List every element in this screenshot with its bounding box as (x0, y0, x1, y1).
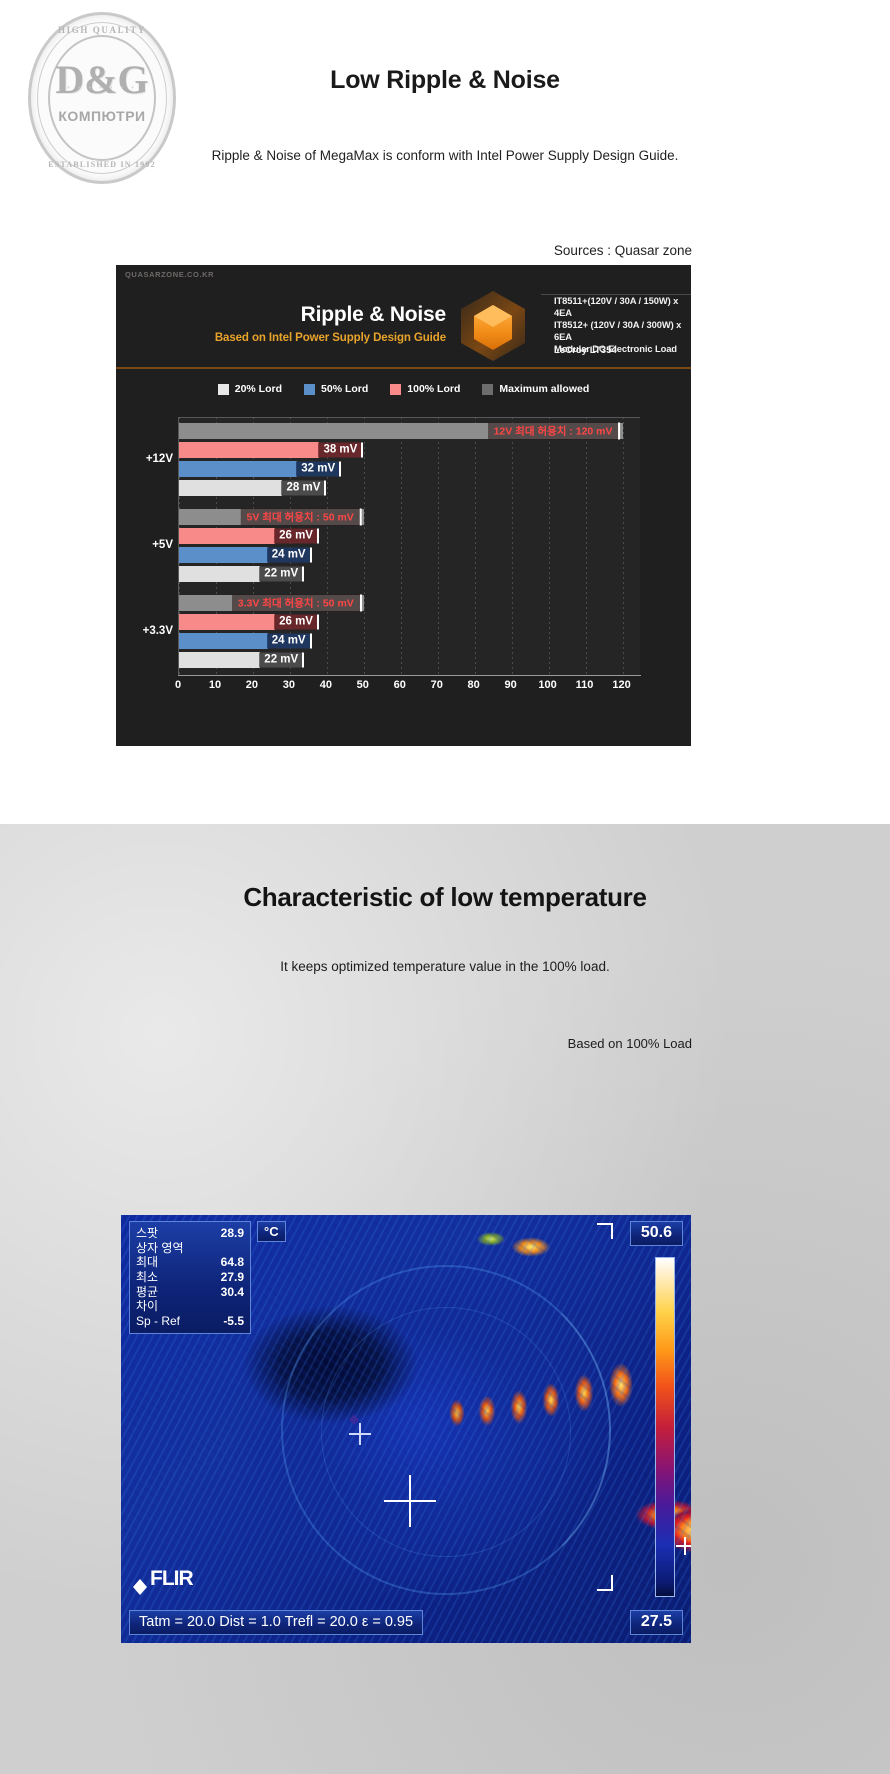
chart-bar-row: 24 mV (179, 633, 641, 649)
flir-readout-line: 스팟28.9 (136, 1226, 244, 1241)
chart-bar-row: 12V 최대 허용치 : 120 mV (179, 423, 641, 439)
flir-readout-key: 최대 (136, 1255, 158, 1270)
temperature-unit-badge: °C (257, 1221, 286, 1242)
x-axis-tick: 0 (175, 679, 181, 691)
chart-bar (179, 566, 260, 582)
flir-readout-line: 차이 (136, 1299, 244, 1314)
chart-bar-row: 26 mV (179, 528, 641, 544)
flir-readout-value: 27.9 (221, 1270, 244, 1285)
x-axis-tick: 40 (320, 679, 332, 691)
x-axis-tick-labels: 0102030405060708090100110120 (178, 679, 641, 697)
legend-swatch-icon (482, 384, 493, 395)
chart-limit-label: 12V 최대 허용치 : 120 mV (488, 423, 621, 440)
flir-measurement-readout: 스팟28.9상자 영역최대64.8최소27.9평균30.4차이Sp - Ref-… (129, 1221, 251, 1334)
ripple-noise-chart-card: QUASARZONE.CO.KR Ripple & Noise Based on… (116, 265, 691, 746)
chart-bar-row: 32 mV (179, 461, 641, 477)
flir-brand-text: FLIR (150, 1567, 193, 1591)
flir-readout-line: 평균30.4 (136, 1285, 244, 1300)
chart-value-label: 24 mV (267, 634, 312, 649)
x-axis-tick: 60 (394, 679, 406, 691)
chart-value-label: 24 mV (267, 548, 312, 563)
flir-readout-value: 64.8 (221, 1255, 244, 1270)
oscilloscope-model: LeCroy LT354 (554, 345, 617, 356)
chart-bar-row: 5V 최대 허용치 : 50 mV (179, 509, 641, 525)
chart-plot-area: 12V 최대 허용치 : 120 mV38 mV32 mV28 mV+12V5V… (178, 417, 640, 675)
temperature-color-scale-bar (655, 1257, 675, 1597)
flir-readout-key: 상자 영역 (136, 1241, 184, 1255)
seal-cyrillic-text: КОМПЮТРИ (28, 108, 176, 124)
chart-bar (179, 614, 275, 630)
chart-bar (179, 547, 268, 563)
flir-readout-line: 최소27.9 (136, 1270, 244, 1285)
chart-bar-row: 22 mV (179, 566, 641, 582)
chart-bar (179, 528, 275, 544)
chart-category-label: +12V (117, 453, 173, 465)
legend-label: 20% Lord (235, 383, 282, 395)
x-axis-tick: 90 (505, 679, 517, 691)
chart-bar (179, 442, 319, 458)
reference-crosshair-icon (349, 1423, 371, 1445)
chart-bar-row: 22 mV (179, 652, 641, 668)
x-axis-tick: 10 (209, 679, 221, 691)
legend-item: 50% Lord (304, 383, 368, 395)
chart-value-label: 28 mV (281, 481, 326, 496)
chart-bar-row: 26 mV (179, 614, 641, 630)
x-axis-tick: 70 (431, 679, 443, 691)
chart-value-label: 22 mV (259, 653, 304, 668)
x-axis-tick: 20 (246, 679, 258, 691)
ripple-noise-section: HIGH QUALITY D&G * * * * * * * КОМПЮТРИ … (0, 0, 890, 824)
flir-brand-logo: FLIR (133, 1567, 193, 1591)
chart-category-label: +5V (117, 539, 173, 551)
flir-readout-key: 평균 (136, 1285, 158, 1300)
legend-swatch-icon (304, 384, 315, 395)
temperature-title: Characteristic of low temperature (0, 882, 890, 913)
chart-value-label: 32 mV (296, 462, 341, 477)
chart-heading: Ripple & Noise (116, 303, 446, 327)
scale-max-value: 50.6 (630, 1221, 683, 1246)
chart-subheading: Based on Intel Power Supply Design Guide (116, 332, 446, 344)
based-on-load-note: Based on 100% Load (568, 1036, 692, 1051)
flir-readout-key: 스팟 (136, 1226, 158, 1241)
legend-label: 100% Lord (407, 383, 460, 395)
chart-bar (179, 461, 297, 477)
chart-bar-row: 24 mV (179, 547, 641, 563)
legend-swatch-icon (218, 384, 229, 395)
seal-top-text: HIGH QUALITY (28, 25, 176, 35)
flir-readout-value: 28.9 (221, 1226, 244, 1241)
x-axis-tick: 80 (468, 679, 480, 691)
legend-item: 100% Lord (390, 383, 460, 395)
orange-cube-icon (456, 287, 530, 365)
chart-bar-row: 38 mV (179, 442, 641, 458)
chart-legend: 20% Lord50% Lord100% LordMaximum allowed (116, 383, 691, 395)
plot-top-border (179, 417, 640, 418)
legend-label: 50% Lord (321, 383, 368, 395)
chart-header: Ripple & Noise Based on Intel Power Supp… (116, 285, 691, 369)
chart-value-label: 26 mV (274, 529, 319, 544)
legend-swatch-icon (390, 384, 401, 395)
scale-bracket-bottom-right (597, 1575, 613, 1591)
quasarzone-watermark: QUASARZONE.CO.KR (125, 270, 214, 279)
scale-bracket-top-right (597, 1223, 613, 1239)
page-title: Low Ripple & Noise (0, 66, 890, 95)
chart-bar-row: 3.3V 최대 허용치 : 50 mV (179, 595, 641, 611)
flir-parameters-bar: Tatm = 20.0 Dist = 1.0 Trefl = 20.0 ε = … (129, 1610, 423, 1635)
chart-value-label: 26 mV (274, 615, 319, 630)
flir-readout-key: 최소 (136, 1270, 158, 1285)
chart-value-label: 22 mV (259, 567, 304, 582)
page-subtitle: Ripple & Noise of MegaMax is conform wit… (0, 148, 890, 163)
legend-item: 20% Lord (218, 383, 282, 395)
x-axis-line (178, 675, 641, 676)
x-axis-tick: 30 (283, 679, 295, 691)
x-axis-tick: 100 (538, 679, 556, 691)
x-axis-tick: 50 (357, 679, 369, 691)
chart-value-label: 38 mV (318, 443, 363, 458)
chart-bar (179, 480, 282, 496)
scale-min-value: 27.5 (630, 1610, 683, 1635)
flir-readout-line: 상자 영역 (136, 1241, 244, 1256)
chart-bar-row: 28 mV (179, 480, 641, 496)
flir-readout-key: Sp - Ref (136, 1314, 180, 1329)
chart-category-label: +3.3V (117, 625, 173, 637)
chart-limit-label: 3.3V 최대 허용치 : 50 mV (232, 595, 362, 612)
flir-readout-line: 최대64.8 (136, 1255, 244, 1270)
hotspot-marker-icon (676, 1537, 691, 1555)
flir-readout-line: Sp - Ref-5.5 (136, 1314, 244, 1329)
temperature-subtitle: It keeps optimized temperature value in … (0, 959, 890, 974)
sources-note: Sources : Quasar zone (554, 243, 692, 258)
center-crosshair-icon (384, 1475, 436, 1527)
chart-bar (179, 652, 260, 668)
flir-readout-value: -5.5 (223, 1314, 244, 1329)
flir-readout-value: 30.4 (221, 1285, 244, 1300)
chart-bar (179, 633, 268, 649)
x-axis-tick: 120 (612, 679, 630, 691)
flir-thermal-image-panel: 스팟28.9상자 영역최대64.8최소27.9평균30.4차이Sp - Ref-… (121, 1215, 691, 1643)
chart-limit-label: 5V 최대 허용치 : 50 mV (241, 509, 362, 526)
legend-item: Maximum allowed (482, 383, 589, 395)
flir-diamond-icon (133, 1572, 147, 1587)
legend-label: Maximum allowed (499, 383, 589, 395)
flir-readout-key: 차이 (136, 1299, 158, 1313)
x-axis-tick: 110 (576, 679, 594, 691)
